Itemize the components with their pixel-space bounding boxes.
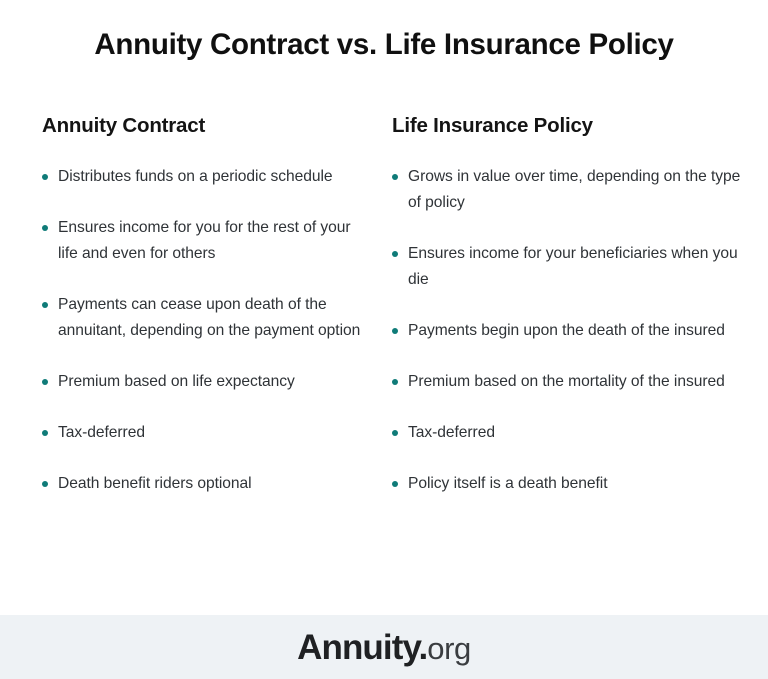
list-item: Distributes funds on a periodic schedule [42,164,363,190]
list-item: Policy itself is a death benefit [392,471,744,497]
list-item-label: Tax-deferred [408,420,744,446]
brand-logo-tld: org [427,633,471,664]
list-item: Tax-deferred [42,420,363,446]
bullet-dot-icon [392,174,398,180]
bullet-dot-icon [42,225,48,231]
list-item: Ensures income for you for the rest of y… [42,215,363,267]
brand-logo-name: Annuity. [297,630,427,665]
bullet-dot-icon [42,302,48,308]
bullet-dot-icon [392,481,398,487]
column-heading-life-insurance-policy: Life Insurance Policy [392,112,744,140]
bullet-dot-icon [392,379,398,385]
list-item-label: Payments begin upon the death of the ins… [408,318,744,344]
list-item: Payments begin upon the death of the ins… [392,318,744,344]
bullet-list-life-insurance-policy: Grows in value over time, depending on t… [392,164,744,497]
list-item-label: Premium based on the mortality of the in… [408,369,744,395]
list-item: Payments can cease upon death of the ann… [42,292,363,344]
list-item-label: Payments can cease upon death of the ann… [58,292,363,344]
list-item: Premium based on life expectancy [42,369,363,395]
list-item: Ensures income for your beneficiaries wh… [392,241,744,293]
page-title: Annuity Contract vs. Life Insurance Poli… [0,26,768,64]
comparison-columns: Annuity Contract Distributes funds on a … [0,112,768,497]
list-item-label: Distributes funds on a periodic schedule [58,164,363,190]
bullet-dot-icon [42,430,48,436]
footer-bar: Annuity. org [0,615,768,679]
list-item: Premium based on the mortality of the in… [392,369,744,395]
bullet-list-annuity-contract: Distributes funds on a periodic schedule… [42,164,363,497]
list-item-label: Ensures income for you for the rest of y… [58,215,363,267]
bullet-dot-icon [42,379,48,385]
bullet-dot-icon [392,251,398,257]
list-item: Tax-deferred [392,420,744,446]
list-item-label: Grows in value over time, depending on t… [408,164,744,216]
infographic-root: Annuity Contract vs. Life Insurance Poli… [0,0,768,679]
bullet-dot-icon [392,328,398,334]
list-item: Death benefit riders optional [42,471,363,497]
bullet-dot-icon [42,481,48,487]
list-item-label: Ensures income for your beneficiaries wh… [408,241,744,293]
bullet-dot-icon [42,174,48,180]
list-item-label: Tax-deferred [58,420,363,446]
brand-logo: Annuity. org [297,630,471,665]
list-item-label: Policy itself is a death benefit [408,471,744,497]
list-item: Grows in value over time, depending on t… [392,164,744,216]
bullet-dot-icon [392,430,398,436]
column-annuity-contract: Annuity Contract Distributes funds on a … [0,112,375,497]
column-heading-annuity-contract: Annuity Contract [42,112,363,140]
list-item-label: Premium based on life expectancy [58,369,363,395]
column-life-insurance-policy: Life Insurance Policy Grows in value ove… [375,112,768,497]
list-item-label: Death benefit riders optional [58,471,363,497]
